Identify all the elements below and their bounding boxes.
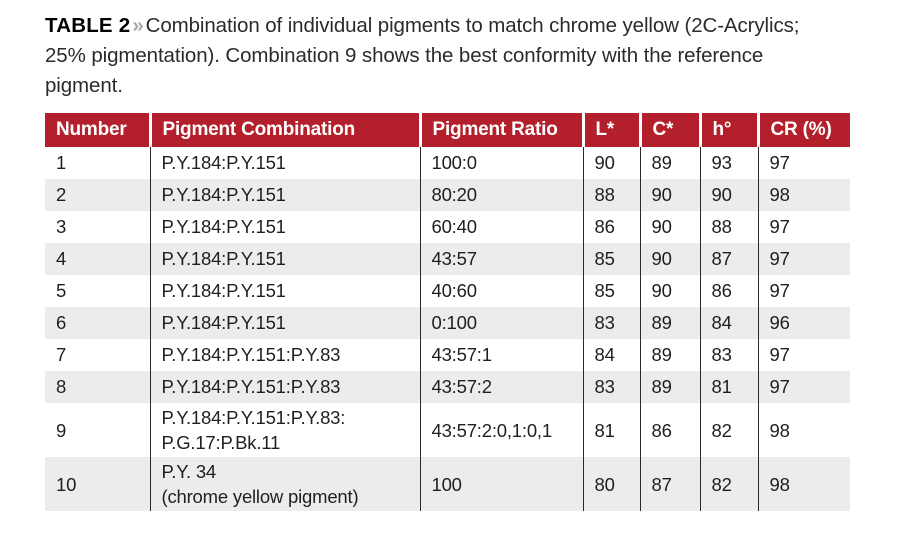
cell-number: 10: [45, 457, 150, 511]
cell-lstar: 85: [583, 275, 640, 307]
table-row: 9P.Y.184:P.Y.151:P.Y.83:P.G.17:P.Bk.1143…: [45, 403, 850, 457]
cell-cr-percent: 97: [758, 275, 850, 307]
combination-line-1: P.Y.184:P.Y.151: [162, 216, 420, 238]
table-body: 1P.Y.184:P.Y.151100:0908993972P.Y.184:P.…: [45, 147, 850, 511]
cell-pigment-combination: P.Y.184:P.Y.151:P.Y.83: [150, 371, 420, 403]
cell-hue-angle: 88: [700, 211, 758, 243]
table-header-row: Number Pigment Combination Pigment Ratio…: [45, 113, 850, 147]
cell-hue-angle: 84: [700, 307, 758, 339]
cell-cr-percent: 97: [758, 147, 850, 179]
cell-lstar: 85: [583, 243, 640, 275]
cell-hue-angle: 90: [700, 179, 758, 211]
combination-line-2: P.G.17:P.Bk.11: [162, 430, 420, 455]
cell-pigment-ratio: 100:0: [420, 147, 583, 179]
cell-pigment-combination: P.Y.184:P.Y.151:P.Y.83:P.G.17:P.Bk.11: [150, 403, 420, 457]
table-header: Number Pigment Combination Pigment Ratio…: [45, 113, 850, 147]
combination-line-1: P.Y.184:P.Y.151:P.Y.83:: [162, 405, 420, 430]
column-header-cstar: C*: [640, 113, 700, 147]
column-header-pigment-combination: Pigment Combination: [150, 113, 420, 147]
cell-cstar: 89: [640, 147, 700, 179]
cell-cr-percent: 96: [758, 307, 850, 339]
cell-number: 6: [45, 307, 150, 339]
combination-line-1: P.Y.184:P.Y.151: [162, 312, 420, 334]
cell-cr-percent: 97: [758, 243, 850, 275]
cell-pigment-ratio: 60:40: [420, 211, 583, 243]
cell-cstar: 90: [640, 179, 700, 211]
cell-pigment-ratio: 43:57:2: [420, 371, 583, 403]
cell-number: 1: [45, 147, 150, 179]
cell-pigment-ratio: 100: [420, 457, 583, 511]
table-row: 3P.Y.184:P.Y.15160:4086908897: [45, 211, 850, 243]
combination-line-1: P.Y. 34: [162, 459, 420, 484]
caption-text: Combination of individual pigments to ma…: [45, 14, 799, 97]
cell-cstar: 87: [640, 457, 700, 511]
cell-hue-angle: 82: [700, 403, 758, 457]
cell-number: 9: [45, 403, 150, 457]
combination-line-1: P.Y.184:P.Y.151:P.Y.83: [162, 376, 420, 398]
table-row: 8P.Y.184:P.Y.151:P.Y.8343:57:283898197: [45, 371, 850, 403]
cell-hue-angle: 81: [700, 371, 758, 403]
table-row: 6P.Y.184:P.Y.1510:10083898496: [45, 307, 850, 339]
combination-line-1: P.Y.184:P.Y.151: [162, 184, 420, 206]
table-row: 10P.Y. 34(chrome yellow pigment)10080878…: [45, 457, 850, 511]
cell-pigment-ratio: 0:100: [420, 307, 583, 339]
cell-number: 4: [45, 243, 150, 275]
cell-cstar: 90: [640, 211, 700, 243]
cell-pigment-combination: P.Y. 34(chrome yellow pigment): [150, 457, 420, 511]
table-container: Number Pigment Combination Pigment Ratio…: [45, 113, 850, 511]
table-row: 7P.Y.184:P.Y.151:P.Y.8343:57:184898397: [45, 339, 850, 371]
cell-pigment-ratio: 80:20: [420, 179, 583, 211]
cell-lstar: 88: [583, 179, 640, 211]
cell-cstar: 86: [640, 403, 700, 457]
cell-cr-percent: 98: [758, 403, 850, 457]
cell-lstar: 83: [583, 307, 640, 339]
cell-hue-angle: 83: [700, 339, 758, 371]
cell-lstar: 90: [583, 147, 640, 179]
cell-number: 3: [45, 211, 150, 243]
cell-pigment-combination: P.Y.184:P.Y.151:P.Y.83: [150, 339, 420, 371]
cell-pigment-combination: P.Y.184:P.Y.151: [150, 243, 420, 275]
cell-cr-percent: 98: [758, 179, 850, 211]
cell-number: 2: [45, 179, 150, 211]
column-header-lstar: L*: [583, 113, 640, 147]
column-header-pigment-ratio: Pigment Ratio: [420, 113, 583, 147]
cell-pigment-combination: P.Y.184:P.Y.151: [150, 147, 420, 179]
table-caption: TABLE 2»Combination of individual pigmen…: [45, 11, 845, 101]
table-figure: TABLE 2»Combination of individual pigmen…: [0, 0, 900, 550]
cell-pigment-combination: P.Y.184:P.Y.151: [150, 275, 420, 307]
cell-pigment-combination: P.Y.184:P.Y.151: [150, 179, 420, 211]
combination-line-1: P.Y.184:P.Y.151: [162, 152, 420, 174]
cell-pigment-ratio: 43:57:2:0,1:0,1: [420, 403, 583, 457]
cell-hue-angle: 82: [700, 457, 758, 511]
cell-lstar: 80: [583, 457, 640, 511]
table-row: 1P.Y.184:P.Y.151100:090899397: [45, 147, 850, 179]
column-header-hue-angle: h°: [700, 113, 758, 147]
combination-line-1: P.Y.184:P.Y.151: [162, 248, 420, 270]
caption-marker-icon: »: [130, 14, 145, 37]
cell-cr-percent: 97: [758, 371, 850, 403]
cell-cstar: 90: [640, 243, 700, 275]
cell-hue-angle: 93: [700, 147, 758, 179]
combination-line-1: P.Y.184:P.Y.151:P.Y.83: [162, 344, 420, 366]
cell-lstar: 84: [583, 339, 640, 371]
column-header-cr-percent: CR (%): [758, 113, 850, 147]
cell-lstar: 81: [583, 403, 640, 457]
cell-pigment-combination: P.Y.184:P.Y.151: [150, 307, 420, 339]
cell-cstar: 89: [640, 307, 700, 339]
table-row: 4P.Y.184:P.Y.15143:5785908797: [45, 243, 850, 275]
cell-hue-angle: 86: [700, 275, 758, 307]
cell-number: 8: [45, 371, 150, 403]
combination-line-1: P.Y.184:P.Y.151: [162, 280, 420, 302]
cell-hue-angle: 87: [700, 243, 758, 275]
pigment-combination-table: Number Pigment Combination Pigment Ratio…: [45, 113, 850, 511]
cell-cr-percent: 97: [758, 211, 850, 243]
cell-pigment-ratio: 43:57:1: [420, 339, 583, 371]
table-row: 2P.Y.184:P.Y.15180:2088909098: [45, 179, 850, 211]
cell-lstar: 83: [583, 371, 640, 403]
cell-cstar: 89: [640, 339, 700, 371]
cell-cstar: 90: [640, 275, 700, 307]
cell-cr-percent: 98: [758, 457, 850, 511]
combination-line-2: (chrome yellow pigment): [162, 484, 420, 509]
column-header-number: Number: [45, 113, 150, 147]
cell-pigment-combination: P.Y.184:P.Y.151: [150, 211, 420, 243]
caption-label: TABLE 2: [45, 14, 130, 37]
cell-number: 7: [45, 339, 150, 371]
cell-pigment-ratio: 40:60: [420, 275, 583, 307]
cell-cr-percent: 97: [758, 339, 850, 371]
table-row: 5P.Y.184:P.Y.15140:6085908697: [45, 275, 850, 307]
cell-number: 5: [45, 275, 150, 307]
cell-pigment-ratio: 43:57: [420, 243, 583, 275]
cell-cstar: 89: [640, 371, 700, 403]
cell-lstar: 86: [583, 211, 640, 243]
